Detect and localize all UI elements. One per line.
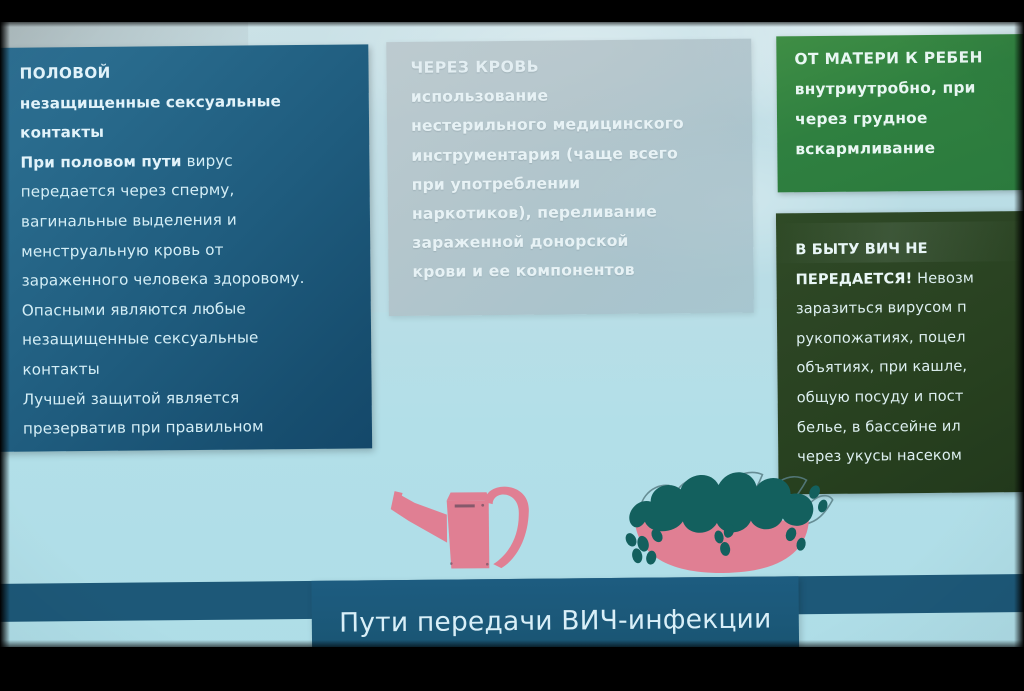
panel-blood-transmission: ЧЕРЕЗ КРОВЬ использование нестерильного … xyxy=(386,39,754,316)
panel-sexual-bold-lead-rest: вирус xyxy=(182,151,233,169)
panel-sexual-line-4: При половом пути вирус xyxy=(20,145,353,178)
panel-blood-line-4: инструментария (чаще всего xyxy=(411,138,740,170)
photographed-slide: ПОЛОВОЙ незащищенные сексуальные контакт… xyxy=(0,0,1024,691)
panel-mtct-line-4: вскармливание xyxy=(795,132,1024,164)
panel-sexual-line-8: зараженного человека здоровому. xyxy=(21,264,354,297)
panel-sexual-heading: ПОЛОВОЙ xyxy=(19,56,352,89)
panel-mtct-line-3: через грудное xyxy=(795,102,1024,134)
panel-blood-line-5: при употреблении xyxy=(412,168,741,200)
panel-sexual-bold-lead: При половом пути xyxy=(20,152,181,172)
panel-sexual-line-6: вагинальные выделения и xyxy=(21,204,354,237)
panel-sexual-line-11: контакты xyxy=(22,352,355,385)
panel-everyday-line-4: рукопожатиях, поцел xyxy=(796,322,1024,354)
projection-screen: ПОЛОВОЙ незащищенные сексуальные контакт… xyxy=(0,6,1024,662)
panel-sexual-transmission: ПОЛОВОЙ незащищенные сексуальные контакт… xyxy=(0,44,372,452)
panel-everyday-line-5: объятиях, при кашле, xyxy=(796,351,1024,383)
screen-bezel-left xyxy=(0,0,10,691)
panel-sexual-line-7: менструальную кровь от xyxy=(21,234,354,267)
panel-sexual-line-2: незащищенные сексуальные xyxy=(20,86,353,119)
panel-blood-line-7: зараженной донорской xyxy=(412,226,741,258)
panel-sexual-line-9: Опасными являются любые xyxy=(22,293,355,326)
panel-sexual-line-13: презерватив при правильном xyxy=(23,412,356,445)
panel-mother-to-child: ОТ МАТЕРИ К РЕБЕН внутриутробно, при чер… xyxy=(776,34,1024,192)
panel-mtct-heading: ОТ МАТЕРИ К РЕБЕН xyxy=(794,42,1024,74)
panel-everyday-heading-line-1: В БЫТУ ВИЧ НЕ xyxy=(795,233,1024,265)
panel-blood-line-8: крови и ее компонентов xyxy=(412,255,741,287)
panel-sexual-line-10: незащищенные сексуальные xyxy=(22,323,355,356)
panel-everyday-heading-line-2: ПЕРЕДАЕТСЯ! Невозм xyxy=(795,263,1024,295)
panel-blood-line-2: использование xyxy=(411,80,740,112)
panel-sexual-line-12: Лучшей защитой является xyxy=(23,382,356,415)
screen-bezel-right xyxy=(1014,0,1024,691)
watering-can-icon xyxy=(388,468,549,582)
potted-plant-icon xyxy=(606,456,837,580)
screen-bezel-bottom xyxy=(0,647,1024,691)
panel-sexual-line-5: передается через сперму, xyxy=(21,175,354,208)
panel-everyday-line-3: заразиться вирусом п xyxy=(796,292,1024,324)
panel-blood-heading: ЧЕРЕЗ КРОВЬ xyxy=(410,51,739,83)
panel-sexual-line-3: контакты xyxy=(20,116,353,149)
panel-everyday-bold-rest: Невозм xyxy=(912,269,974,287)
panel-mtct-line-2: внутриутробно, при xyxy=(795,72,1024,104)
slide-title-text: Пути передачи ВИЧ-инфекции xyxy=(339,603,772,638)
panel-everyday-life: В БЫТУ ВИЧ НЕ ПЕРЕДАЕТСЯ! Невозм заразит… xyxy=(776,211,1024,494)
panel-everyday-line-6: общую посуду и пост xyxy=(797,381,1024,413)
panel-everyday-bold-exclaim: ПЕРЕДАЕТСЯ! xyxy=(795,270,912,288)
panel-blood-line-3: нестерильного медицинского xyxy=(411,109,740,141)
panel-everyday-line-7: белье, в бассейне ил xyxy=(797,411,1024,443)
screen-bezel-top xyxy=(0,0,1024,22)
panel-blood-line-6: наркотиков), переливание xyxy=(412,197,741,229)
